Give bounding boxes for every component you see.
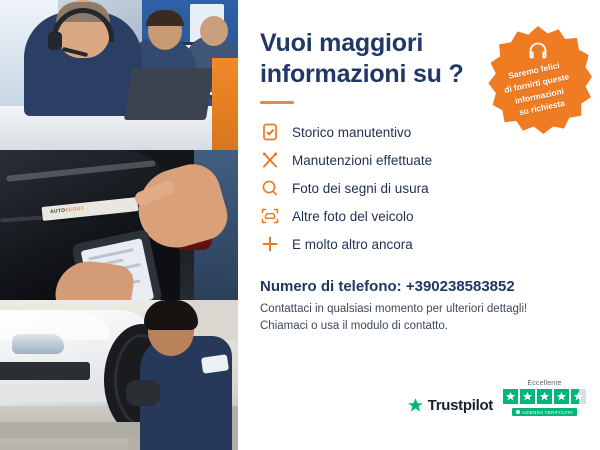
clipboard-check-icon [260, 122, 280, 142]
list-item: Foto dei segni di usura [260, 174, 578, 202]
car-grille [0, 362, 90, 380]
callout-badge: Saremo felici di fornirti queste informa… [484, 26, 592, 134]
contact-subline-1: Contattaci in qualsiasi momento per ulte… [260, 301, 578, 318]
headset-icon [527, 42, 549, 60]
trustpilot-wordmark: Trustpilot [428, 397, 493, 414]
feature-list: Storico manutentivo Manutenzioni effettu… [260, 118, 578, 258]
trustpilot-rating: Eccellente AZIENDA VERIFICATA [503, 380, 586, 416]
mechanic-wheel-photo [0, 300, 238, 450]
star-1 [503, 389, 518, 404]
orange-equipment [212, 58, 238, 150]
car-inspection-photo: AUTOSCOUT [0, 150, 238, 300]
star-rating [503, 389, 586, 404]
title-divider [260, 101, 294, 104]
page-title: Vuoi maggiori informazioni su ? [260, 28, 490, 89]
verified-badge: AZIENDA VERIFICATA [512, 408, 577, 416]
rating-label: Eccellente [527, 380, 561, 387]
feature-label: E molto altro ancora [292, 237, 413, 252]
check-dot-icon [516, 410, 520, 414]
photo-column: AUTOSCOUT [0, 0, 238, 450]
star-3 [537, 389, 552, 404]
trustpilot-widget[interactable]: Trustpilot Eccellente AZIENDA VERIFICATA [407, 380, 586, 416]
phone-number-line[interactable]: Numero di telefono: +390238583852 [260, 278, 578, 295]
contact-subline-2: Chiamaci o usa il modulo di contatto. [260, 318, 578, 335]
trustpilot-star-icon [407, 397, 424, 414]
magnifier-icon [260, 178, 280, 198]
plus-icon [260, 234, 280, 254]
contact-block: Numero di telefono: +390238583852 Contat… [260, 278, 578, 336]
list-item: Manutenzioni effettuate [260, 146, 578, 174]
vehicle-lift [0, 422, 150, 438]
trustpilot-logo[interactable]: Trustpilot [407, 397, 493, 416]
star-2 [520, 389, 535, 404]
car-headlight [12, 334, 64, 354]
third-agent-head [200, 16, 228, 46]
list-item: Altre foto del veicolo [260, 202, 578, 230]
mechanic-hair [144, 300, 198, 330]
star-4 [554, 389, 569, 404]
call-center-agents-photo [0, 0, 238, 150]
content-panel: Vuoi maggiori informazioni su ? Storico … [238, 0, 600, 450]
strip-brand-text: AUTOSCOUT [50, 206, 85, 216]
phone-number[interactable]: +390238583852 [406, 278, 515, 295]
phone-label: Numero di telefono: [260, 278, 402, 295]
verified-label: AZIENDA VERIFICATA [522, 410, 573, 415]
star-5-half [571, 389, 586, 404]
feature-label: Manutenzioni effettuate [292, 153, 432, 168]
crossed-tools-icon [260, 150, 280, 170]
feature-label: Altre foto del veicolo [292, 209, 414, 224]
feature-label: Storico manutentivo [292, 125, 411, 140]
car-scan-icon [260, 206, 280, 226]
list-item: E molto altro ancora [260, 230, 578, 258]
laptop [124, 68, 214, 120]
agent-headset-earcup [48, 32, 62, 50]
car-bumper [0, 384, 114, 402]
mechanic-glove [126, 380, 160, 406]
feature-label: Foto dei segni di usura [292, 181, 429, 196]
promo-banner: AUTOSCOUT [0, 0, 600, 450]
